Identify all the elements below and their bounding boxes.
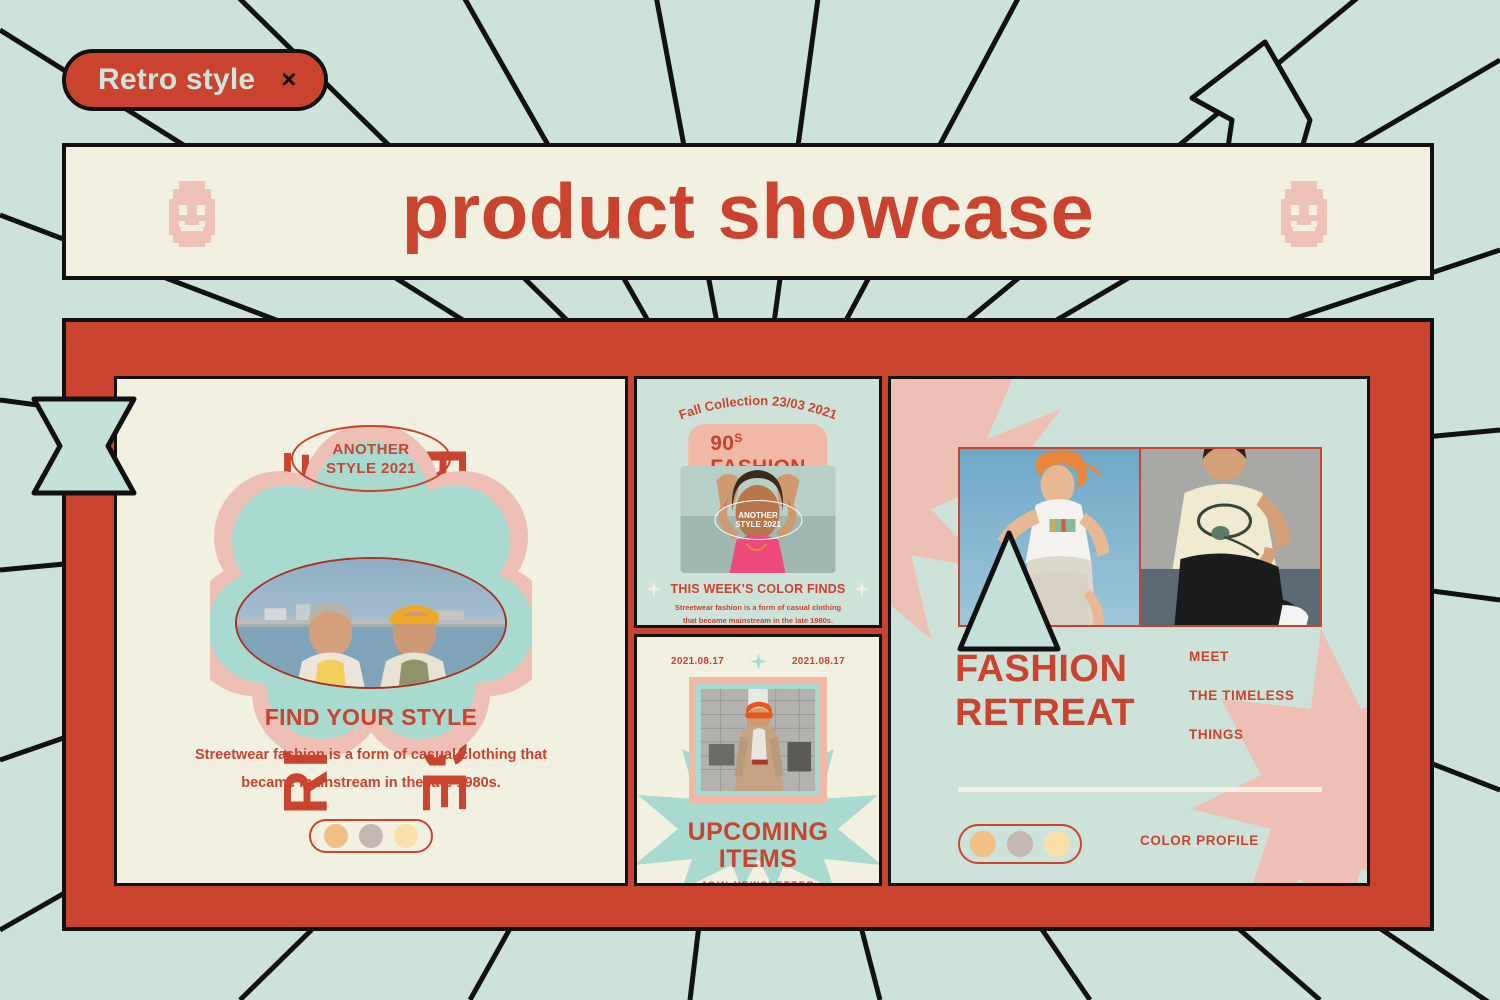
- overlay-line-2: STYLE 2021: [735, 520, 781, 529]
- slide1-body: Streetwear fashion is a form of casual c…: [191, 741, 551, 798]
- photo-left: [960, 449, 1139, 625]
- svg-text:Fall Collection 23/03 2021: Fall Collection 23/03 2021: [677, 393, 839, 422]
- color-swatch-pill-4[interactable]: [958, 824, 1082, 864]
- upcoming-line-1: UPCOMING: [637, 819, 879, 846]
- upcoming-item-photo-frame: [689, 677, 827, 803]
- pixel-smiley-icon: [161, 177, 223, 247]
- dates-row: 2021.08.17 2021.08.17: [657, 653, 859, 670]
- slide1-heading: FIND YOUR STYLE: [117, 704, 625, 731]
- hero-photo-oval: [235, 557, 507, 689]
- sparkle-icon: [646, 581, 662, 597]
- retreat-line-2: RETREAT: [955, 691, 1135, 735]
- color-finds-row: THIS WEEK'S COLOR FINDS: [637, 581, 879, 597]
- another-style-badge: ANOTHER STYLE 2021: [291, 425, 451, 492]
- overlay-line-1: ANOTHER: [738, 511, 778, 520]
- retreat-tagline-list: MEET THE TIMELESS THINGS: [1189, 649, 1294, 766]
- date-left: 2021.08.17: [671, 656, 724, 667]
- swatch: [324, 824, 348, 848]
- slide-90s-fashion[interactable]: Fall Collection 23/03 2021 90S FASHION: [634, 376, 882, 628]
- dual-photo-pair: [958, 447, 1322, 627]
- slide-upcoming-items[interactable]: 2021.08.17 2021.08.17: [634, 634, 882, 886]
- swatch: [394, 824, 418, 848]
- arc-text-content: Fall Collection 23/03 2021: [677, 393, 839, 422]
- slide-find-your-style[interactable]: RETROAGE RETROAGE: [114, 376, 628, 886]
- slide-fashion-retreat[interactable]: FASHION RETREAT MEET THE TIMELESS THINGS…: [888, 376, 1370, 886]
- swatch: [359, 824, 383, 848]
- retro-tag-label: Retro style: [98, 63, 255, 97]
- badge-line-1: ANOTHER: [333, 441, 410, 458]
- tagline-item: THINGS: [1189, 727, 1294, 742]
- photo-overlay-badge: ANOTHER STYLE 2021: [714, 500, 802, 540]
- divider: [958, 787, 1322, 792]
- date-right: 2021.08.17: [792, 656, 845, 667]
- fall-collection-arc-text: Fall Collection 23/03 2021: [653, 387, 863, 429]
- retro-style-tag[interactable]: Retro style ×: [62, 49, 328, 111]
- swatch: [1007, 831, 1033, 857]
- swatch: [1044, 831, 1070, 857]
- pixel-smiley-icon: [1273, 177, 1335, 247]
- badge-line-2: STYLE 2021: [326, 460, 416, 477]
- upcoming-heading: UPCOMING ITEMS: [637, 819, 879, 872]
- slides-row: RETROAGE RETROAGE: [114, 376, 1370, 886]
- photo-right: [1139, 449, 1320, 625]
- fashion-retreat-title: FASHION RETREAT: [955, 647, 1135, 736]
- model-photo: ANOTHER STYLE 2021: [681, 466, 836, 573]
- tagline-item: THE TIMELESS: [1189, 688, 1294, 703]
- close-icon[interactable]: ×: [281, 66, 296, 92]
- retreat-line-1: FASHION: [955, 647, 1135, 691]
- swatch: [970, 831, 996, 857]
- sparkle-icon: [750, 653, 767, 670]
- page-title: product showcase: [402, 166, 1095, 257]
- showcase-frame: RETROAGE RETROAGE: [62, 318, 1434, 931]
- color-finds-title: THIS WEEK'S COLOR FINDS: [671, 582, 846, 596]
- header-banner: product showcase: [62, 143, 1434, 280]
- upcoming-line-2: ITEMS: [637, 846, 879, 873]
- tagline-item: MEET: [1189, 649, 1294, 664]
- color-profile-label: COLOR PROFILE: [1140, 833, 1259, 848]
- color-finds-body: Streetwear fashion is a form of casual c…: [667, 601, 849, 627]
- middle-slide-column: Fall Collection 23/03 2021 90S FASHION: [634, 376, 882, 886]
- sparkle-icon: [854, 581, 870, 597]
- join-newsletter-label[interactable]: JOIN NEWSLETTER: [637, 880, 879, 886]
- color-swatch-pill-1[interactable]: [309, 819, 433, 853]
